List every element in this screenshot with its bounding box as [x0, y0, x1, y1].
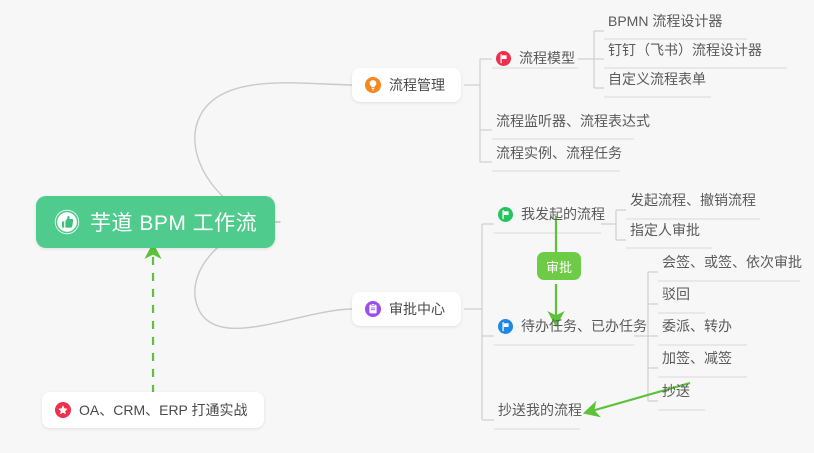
flag-icon: [498, 207, 513, 222]
node-approval-center[interactable]: 审批中心: [352, 292, 461, 326]
node-custom-process-form-label: 自定义流程表单: [608, 69, 706, 89]
node-countersign-orsign-sequential-label: 会签、或签、依次审批: [662, 252, 802, 272]
node-bpmn-designer[interactable]: BPMN 流程设计器: [604, 11, 728, 37]
node-process-model[interactable]: 流程模型: [492, 48, 581, 74]
node-countersign-orsign-sequential[interactable]: 会签、或签、依次审批: [658, 252, 808, 278]
node-start-cancel-process[interactable]: 发起流程、撤销流程: [626, 190, 762, 216]
node-delegate-transfer-label: 委派、转办: [662, 316, 732, 336]
node-reject[interactable]: 驳回: [658, 284, 696, 310]
root-label: 芋道 BPM 工作流: [90, 207, 257, 237]
oa-crm-erp-callout-label: OA、CRM、ERP 打通实战: [79, 400, 248, 420]
node-cc[interactable]: 抄送: [658, 381, 696, 407]
node-dingtalk-feishu-designer[interactable]: 钉钉（飞书）流程设计器: [604, 40, 768, 66]
node-cc-label: 抄送: [662, 381, 690, 401]
node-cc-to-me-process-label: 抄送我的流程: [498, 400, 582, 420]
node-process-listener-expression-label: 流程监听器、流程表达式: [496, 111, 650, 131]
node-process-instance-task-label: 流程实例、流程任务: [496, 143, 622, 163]
lightbulb-icon: [365, 77, 381, 93]
star-icon: [55, 402, 71, 418]
root-node[interactable]: 芋道 BPM 工作流: [36, 196, 275, 248]
node-process-model-label: 流程模型: [519, 48, 575, 68]
node-process-management[interactable]: 流程管理: [352, 68, 461, 102]
approval-badge[interactable]: 审批: [537, 252, 581, 280]
flag-icon: [496, 51, 511, 66]
thumbs-up-icon: [54, 209, 80, 235]
node-delegate-transfer[interactable]: 委派、转办: [658, 316, 738, 342]
oa-crm-erp-callout[interactable]: OA、CRM、ERP 打通实战: [42, 392, 264, 428]
node-cc-to-me-process[interactable]: 抄送我的流程: [494, 400, 588, 426]
node-bpmn-designer-label: BPMN 流程设计器: [608, 11, 722, 31]
node-custom-process-form[interactable]: 自定义流程表单: [604, 69, 712, 95]
node-add-remove-sign[interactable]: 加签、减签: [658, 348, 738, 374]
node-process-instance-task[interactable]: 流程实例、流程任务: [492, 143, 628, 169]
node-my-initiated-process-label: 我发起的流程: [521, 204, 605, 224]
node-add-remove-sign-label: 加签、减签: [662, 348, 732, 368]
node-dingtalk-feishu-designer-label: 钉钉（飞书）流程设计器: [608, 40, 762, 60]
node-todo-done-tasks-label: 待办任务、已办任务: [521, 316, 647, 336]
node-todo-done-tasks[interactable]: 待办任务、已办任务: [494, 316, 653, 342]
approval-badge-label: 审批: [546, 257, 572, 276]
node-assignee-approval[interactable]: 指定人审批: [626, 220, 706, 246]
flag-icon: [498, 319, 513, 334]
node-assignee-approval-label: 指定人审批: [630, 220, 700, 240]
node-process-management-label: 流程管理: [389, 75, 445, 95]
node-start-cancel-process-label: 发起流程、撤销流程: [630, 190, 756, 210]
node-process-listener-expression[interactable]: 流程监听器、流程表达式: [492, 111, 656, 137]
document-icon: [365, 301, 381, 317]
mindmap-canvas: 芋道 BPM 工作流 流程管理 流程模型 BPMN 流程设计器 钉钉（飞书）流: [0, 0, 814, 453]
node-approval-center-label: 审批中心: [389, 299, 445, 319]
node-my-initiated-process[interactable]: 我发起的流程: [494, 204, 611, 230]
node-reject-label: 驳回: [662, 284, 690, 304]
